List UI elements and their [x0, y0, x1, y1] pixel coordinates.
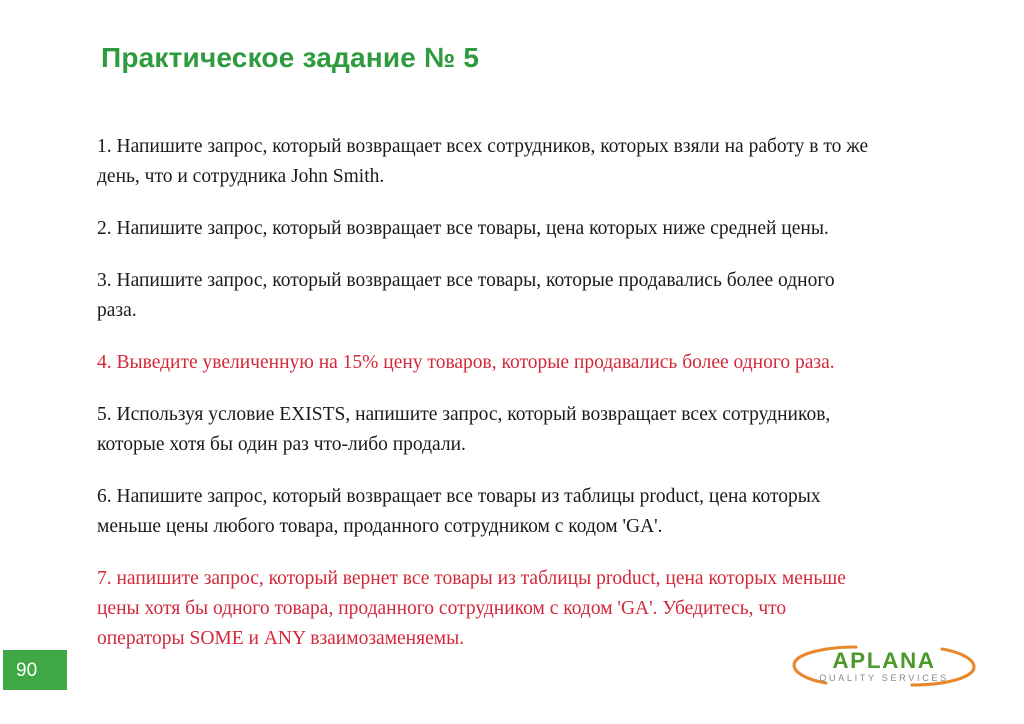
page-number-badge: 90 [3, 650, 67, 690]
task-item-1: 1. Напишите запрос, который возвращает в… [97, 132, 973, 192]
task-4-line-1: 4. Выведите увеличенную на 15% цену това… [97, 352, 835, 373]
task-6-line-2: меньше цены любого товара, проданного со… [97, 512, 973, 542]
task-7-line-2: цены хотя бы одного товара, проданного с… [97, 594, 973, 624]
task-3-line-2: раза. [97, 296, 973, 326]
task-item-3: 3. Напишите запрос, который возвращает в… [97, 266, 973, 326]
task-5-line-2: которые хотя бы один раз что-либо продал… [97, 430, 973, 460]
page-title: Практическое задание № 5 [101, 41, 921, 75]
logo-wordmark: APLANA [832, 648, 935, 673]
task-2-line-1: 2. Напишите запрос, который возвращает в… [97, 218, 829, 239]
task-item-4: 4. Выведите увеличенную на 15% цену това… [97, 348, 973, 378]
page-number-label: 90 [3, 661, 37, 680]
task-3-line-1: 3. Напишите запрос, который возвращает в… [97, 270, 835, 291]
task-item-6: 6. Напишите запрос, который возвращает в… [97, 482, 973, 542]
task-1-line-2: день, что и сотрудника John Smith. [97, 162, 973, 192]
task-1-line-1: 1. Напишите запрос, который возвращает в… [97, 136, 868, 157]
task-5-line-1: 5. Используя условие EXISTS, напишите за… [97, 404, 830, 425]
task-7-line-1: 7. напишите запрос, который вернет все т… [97, 568, 846, 589]
task-item-5: 5. Используя условие EXISTS, напишите за… [97, 400, 973, 460]
logo-tagline: QUALITY SERVICES [819, 673, 949, 683]
task-6-line-1: 6. Напишите запрос, который возвращает в… [97, 486, 821, 507]
slide-canvas: Практическое задание № 5 1. Напишите зап… [0, 0, 1024, 724]
task-list: 1. Напишите запрос, который возвращает в… [97, 132, 973, 654]
aplana-logo: APLANA QUALITY SERVICES [786, 638, 982, 694]
task-item-2: 2. Напишите запрос, который возвращает в… [97, 214, 973, 244]
